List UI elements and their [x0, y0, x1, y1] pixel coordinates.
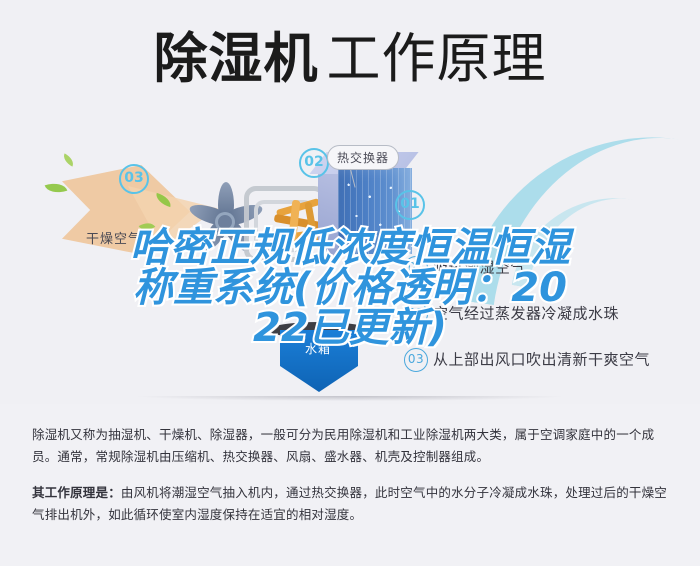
article-body: 除湿机又称为抽湿机、干燥机、除湿器，一般可分为民用除湿机和工业除湿机两大类，属于…: [0, 404, 700, 566]
annotation-01: 01吸进潮湿空气: [404, 256, 526, 280]
fan-hub: [215, 212, 235, 232]
annotation-text: 从上部出风口吹出清新干爽空气: [433, 351, 650, 369]
dry-air-label: 干燥空气: [86, 228, 142, 247]
body-paragraph-2-rest: 由风机将潮湿空气抽入机内，通过热交换器，此时空气中的水分子冷凝成水珠，处理过后的…: [32, 485, 667, 522]
annotation-number: 02: [404, 302, 428, 326]
annotation-text: 空气经过蒸发器冷凝成水珠: [433, 305, 619, 323]
title-sub: 工作原理: [327, 27, 547, 90]
badge-01: 01: [395, 190, 425, 220]
body-paragraph-2-lead: 其工作原理是：: [32, 485, 121, 500]
annotation-02: 02空气经过蒸发器冷凝成水珠: [404, 302, 619, 326]
body-paragraph-2: 其工作原理是：由风机将潮湿空气抽入机内，通过热交换器，此时空气中的水分子冷凝成水…: [32, 482, 668, 526]
leaf-icon: [61, 153, 76, 166]
exchanger-side-panel: [318, 162, 340, 257]
annotation-number: 03: [404, 348, 428, 372]
title-main: 除湿机: [154, 27, 319, 90]
body-paragraph-1: 除湿机又称为抽湿机、干燥机、除湿器，一般可分为民用除湿机和工业除湿机两大类，属于…: [32, 424, 668, 468]
infographic-title: 除湿机工作原理: [0, 28, 700, 90]
badge-02: 02: [299, 148, 329, 178]
image-bottom-shadow: [0, 396, 700, 404]
annotation-03: 03从上部出风口吹出清新干爽空气: [404, 348, 650, 372]
annotation-text: 吸进潮湿空气: [433, 259, 526, 277]
water-tank-label: 水箱: [305, 340, 331, 357]
annotation-number: 01: [404, 256, 428, 280]
heat-exchanger-callout: 热交换器: [327, 145, 399, 170]
infographic-image: 除湿机工作原理 干燥空气: [0, 0, 700, 404]
page-root: 除湿机工作原理 干燥空气: [0, 0, 700, 566]
badge-03: 03: [119, 164, 149, 194]
